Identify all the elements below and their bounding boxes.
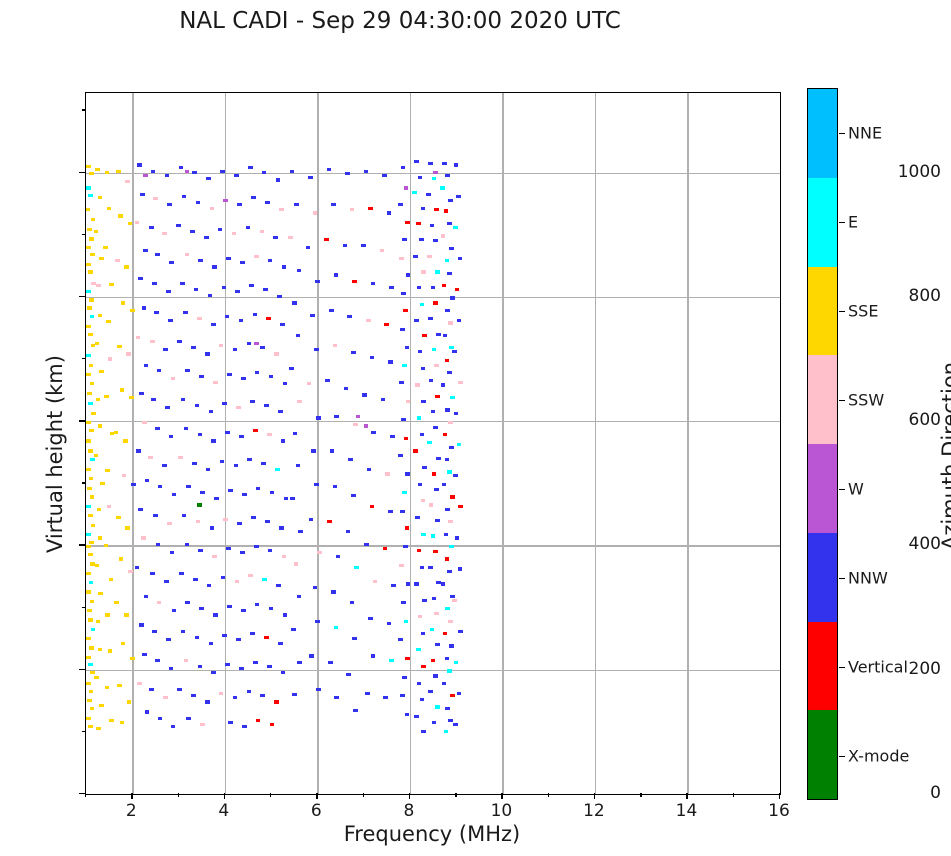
data-point (333, 344, 338, 347)
data-point (260, 694, 265, 697)
data-point (128, 222, 133, 225)
data-point (414, 160, 419, 163)
data-point (309, 654, 314, 657)
data-point (444, 209, 449, 212)
data-point (427, 441, 432, 444)
data-point (86, 572, 91, 575)
data-point (405, 221, 410, 224)
data-point (447, 470, 452, 473)
data-point (164, 580, 169, 583)
data-point (86, 186, 91, 189)
data-point (447, 371, 452, 374)
data-point (120, 388, 125, 391)
data-point (353, 423, 358, 426)
data-point (297, 661, 302, 664)
data-point (124, 613, 129, 616)
data-point (383, 696, 388, 699)
data-point (307, 382, 312, 385)
data-point (308, 176, 313, 179)
data-point (127, 700, 132, 703)
data-point (250, 632, 255, 635)
data-point (149, 226, 154, 229)
data-point (432, 177, 437, 180)
data-point (181, 630, 186, 633)
x-tick-label: 2 (126, 801, 137, 821)
data-point (267, 433, 272, 436)
data-point (179, 572, 184, 575)
data-point (456, 195, 461, 198)
data-point (158, 485, 163, 488)
x-tick-minor (640, 793, 641, 797)
data-point (226, 257, 231, 260)
data-point (105, 686, 110, 689)
colorbar-label-ssw: SSW (848, 390, 884, 409)
data-point (445, 174, 450, 177)
data-point (309, 518, 314, 521)
data-point (421, 730, 426, 733)
data-point (248, 166, 253, 169)
data-point (166, 638, 171, 641)
data-point (401, 166, 406, 169)
data-point (142, 421, 147, 424)
data-point (404, 620, 409, 623)
data-point (455, 288, 460, 291)
data-point (196, 520, 201, 523)
data-point (88, 618, 93, 621)
data-point (136, 449, 141, 452)
data-point (404, 437, 409, 440)
data-point (311, 449, 316, 452)
data-point (391, 584, 396, 587)
data-point (153, 197, 158, 200)
data-point (361, 244, 366, 247)
data-point (126, 352, 131, 355)
data-point (366, 319, 371, 322)
data-point (421, 533, 426, 536)
data-point (445, 707, 450, 710)
data-point (180, 282, 185, 285)
data-point (223, 199, 228, 202)
data-point (204, 236, 209, 239)
data-point (458, 567, 463, 570)
data-point (251, 516, 256, 519)
data-point (457, 443, 462, 446)
data-point (118, 214, 123, 217)
data-point (294, 562, 299, 565)
data-point (381, 398, 386, 401)
colorbar-tick (839, 311, 845, 312)
data-point (95, 564, 100, 567)
data-point (296, 464, 301, 467)
data-point (219, 692, 224, 695)
data-point (177, 688, 182, 691)
data-point (458, 381, 463, 384)
data-point (442, 682, 447, 685)
data-point (421, 367, 426, 370)
data-point (364, 424, 369, 427)
data-point (428, 690, 433, 693)
colorbar-tick (839, 578, 845, 579)
data-point (430, 224, 435, 227)
data-point (88, 449, 93, 452)
x-tick-label: 4 (218, 801, 229, 821)
data-point (294, 203, 299, 206)
colorbar-tick (839, 400, 845, 401)
colorbar-segment-nne (808, 89, 837, 178)
data-point (421, 400, 426, 403)
data-point (190, 230, 195, 233)
data-point (123, 439, 128, 442)
data-point (371, 654, 376, 657)
data-point (104, 395, 109, 398)
data-point (91, 628, 96, 631)
data-point (122, 474, 127, 477)
data-point (197, 503, 202, 506)
data-point (221, 576, 226, 579)
data-point (109, 283, 114, 286)
data-point (108, 357, 113, 360)
data-point (430, 628, 435, 631)
colorbar-tick (839, 756, 845, 757)
data-point (236, 406, 241, 409)
data-point (256, 719, 261, 722)
data-point (225, 431, 230, 434)
data-point (139, 623, 144, 626)
data-point (86, 717, 91, 720)
data-point (418, 615, 423, 618)
data-point (268, 549, 273, 552)
data-point (234, 174, 239, 177)
data-point (453, 723, 458, 726)
data-point (445, 458, 450, 461)
data-point (440, 186, 445, 189)
data-point (142, 306, 147, 309)
data-point (445, 259, 450, 262)
data-point (86, 533, 91, 536)
x-tick-major (224, 793, 225, 799)
data-point (417, 286, 422, 289)
x-tick-label: 8 (403, 801, 414, 821)
data-point (413, 255, 418, 258)
data-point (222, 286, 227, 289)
data-point (90, 671, 95, 674)
data-point (434, 208, 439, 211)
data-point (390, 435, 395, 438)
data-point (228, 721, 233, 724)
data-point (219, 344, 224, 347)
data-point (431, 410, 436, 413)
data-point (453, 474, 458, 477)
data-point (90, 315, 95, 318)
data-point (281, 671, 286, 674)
data-point (345, 172, 350, 175)
data-point (193, 578, 198, 581)
data-point (171, 377, 176, 380)
data-point (450, 296, 455, 299)
data-point (211, 671, 216, 674)
y-tick-major (79, 544, 85, 545)
data-point (240, 551, 245, 554)
data-point (292, 301, 297, 304)
data-point (171, 725, 176, 728)
data-point (88, 663, 93, 666)
data-point (398, 203, 403, 206)
data-point (253, 313, 258, 316)
data-point (418, 176, 423, 179)
data-point (399, 564, 404, 567)
data-point (195, 404, 200, 407)
data-point (121, 642, 126, 645)
data-point (292, 693, 297, 696)
data-point (362, 393, 367, 396)
data-point (405, 657, 410, 660)
data-point (233, 348, 238, 351)
data-point (328, 661, 333, 664)
x-tick-minor (455, 793, 456, 797)
data-point (116, 170, 121, 173)
data-point (86, 545, 91, 548)
data-point (264, 636, 269, 639)
data-point (447, 669, 452, 672)
y-axis-label: Virtual height (km) (43, 304, 67, 604)
data-point (105, 171, 110, 174)
data-point (89, 581, 94, 584)
data-point (281, 439, 286, 442)
data-point (87, 609, 92, 612)
data-point (241, 377, 246, 380)
data-point (448, 620, 453, 623)
x-axis-label: Frequency (MHz) (85, 822, 779, 846)
data-point (209, 410, 214, 413)
data-point (88, 333, 93, 336)
data-point (98, 592, 103, 595)
y-tick-major (79, 793, 85, 794)
data-point (195, 636, 200, 639)
colorbar-label-e: E (848, 212, 858, 231)
x-tick-minor (178, 793, 179, 797)
data-point (289, 367, 294, 370)
data-point (86, 373, 91, 376)
data-point (313, 586, 318, 589)
data-point (191, 346, 196, 349)
colorbar-tick (839, 667, 845, 668)
data-point (227, 373, 232, 376)
data-point (120, 721, 125, 724)
data-point (184, 427, 189, 430)
data-point (441, 234, 446, 237)
data-point (449, 545, 454, 548)
data-point (139, 392, 144, 395)
data-point (441, 582, 446, 585)
colorbar-label-x-mode: X-mode (848, 746, 909, 765)
colorbar-label-nnw: NNW (848, 568, 888, 587)
data-point (105, 469, 110, 472)
colorbar-label-w: W (848, 479, 864, 498)
data-point (226, 547, 231, 550)
data-point (96, 398, 101, 401)
data-point (346, 673, 351, 676)
data-point (405, 472, 410, 475)
data-point (191, 694, 196, 697)
data-point (89, 364, 94, 367)
data-point (233, 696, 238, 699)
data-point (239, 319, 244, 322)
data-point (403, 545, 408, 548)
data-point (232, 232, 237, 235)
y-tick-major (79, 420, 85, 421)
data-point (211, 439, 216, 442)
data-point (88, 194, 93, 197)
data-point (291, 628, 296, 631)
data-point (412, 191, 417, 194)
data-point (98, 314, 103, 317)
data-point (449, 644, 454, 647)
data-point (90, 382, 95, 385)
data-point (140, 193, 145, 196)
data-point (136, 336, 141, 339)
data-point (117, 345, 122, 348)
page-title: NAL CADI - Sep 29 04:30:00 2020 UTC (0, 8, 800, 34)
x-tick-major (131, 793, 132, 799)
data-point (86, 354, 91, 357)
data-point (182, 195, 187, 198)
data-point (429, 379, 434, 382)
data-point (284, 497, 289, 500)
x-tick-major (501, 793, 502, 799)
data-point (406, 400, 411, 403)
ionogram-figure: NAL CADI - Sep 29 04:30:00 2020 UTC 2468… (0, 0, 951, 856)
data-point (297, 400, 302, 403)
data-point (405, 346, 410, 349)
data-point (247, 458, 252, 461)
data-point (177, 340, 182, 343)
data-point (454, 661, 459, 664)
data-point (420, 433, 425, 436)
data-point (262, 171, 267, 174)
data-point (251, 196, 256, 199)
data-point (333, 485, 338, 488)
data-point (316, 688, 321, 691)
data-point (432, 348, 437, 351)
data-point (274, 352, 279, 355)
y-tick-major (79, 296, 85, 297)
data-point (356, 415, 361, 418)
data-point (86, 246, 91, 249)
data-point (444, 533, 449, 536)
data-point (142, 653, 147, 656)
data-point (315, 280, 320, 283)
data-point (143, 249, 148, 252)
data-point (100, 482, 105, 485)
y-tick-label: 0 (877, 783, 951, 803)
data-point (350, 601, 355, 604)
data-point (368, 617, 373, 620)
data-point (115, 259, 120, 262)
data-point (89, 172, 94, 175)
data-point (434, 364, 439, 367)
data-point (421, 665, 426, 668)
data-point (416, 222, 421, 225)
colorbar-title: Azimuth Direction (938, 296, 951, 616)
data-point (185, 253, 190, 256)
data-point (449, 346, 454, 349)
data-point (263, 288, 268, 291)
data-point (130, 657, 135, 660)
data-point (235, 580, 240, 583)
data-point (443, 632, 448, 635)
x-tick-minor (733, 793, 734, 797)
x-tick-minor (363, 793, 364, 797)
data-point (114, 431, 119, 434)
data-point (331, 590, 336, 593)
data-point (116, 516, 121, 519)
data-point (265, 520, 270, 523)
data-point (242, 725, 247, 728)
data-point (212, 265, 217, 268)
data-point (255, 603, 260, 606)
data-point (371, 431, 376, 434)
data-point (417, 549, 422, 552)
data-point (144, 595, 149, 598)
data-point (213, 613, 218, 616)
data-point (86, 421, 91, 424)
data-point (348, 458, 353, 461)
data-point (198, 259, 203, 262)
data-point (422, 466, 427, 469)
x-tick-minor (270, 793, 271, 797)
data-point (389, 286, 394, 289)
data-point (162, 464, 167, 467)
data-point (227, 605, 232, 608)
data-point (278, 410, 283, 413)
data-point (172, 609, 177, 612)
data-point (457, 692, 462, 695)
colorbar-label-sse: SSE (848, 301, 878, 320)
data-point (206, 468, 211, 471)
data-point (225, 315, 230, 318)
data-point (192, 171, 197, 174)
data-point (158, 717, 163, 720)
data-point (447, 222, 452, 225)
data-point (220, 460, 225, 463)
data-point (421, 632, 426, 635)
data-point (382, 174, 387, 177)
data-point (141, 536, 146, 539)
data-point (91, 282, 96, 285)
data-point (90, 458, 95, 461)
x-tick-major (409, 793, 410, 799)
data-point (447, 570, 452, 573)
data-point (228, 489, 233, 492)
data-point (269, 375, 274, 378)
data-point (211, 323, 216, 326)
data-point (273, 236, 278, 239)
data-point (434, 488, 439, 491)
data-point (237, 522, 242, 525)
data-point (153, 514, 158, 517)
data-point (253, 661, 258, 664)
colorbar-segment-sse (808, 267, 837, 356)
colorbar-segment-x-mode (808, 710, 837, 799)
data-point (145, 479, 150, 482)
data-point (442, 483, 447, 486)
data-point (88, 270, 93, 273)
y-tick-minor (82, 109, 86, 110)
data-point (86, 468, 91, 471)
data-point (172, 493, 177, 496)
colorbar-label-nne: NNE (848, 123, 882, 142)
data-point (370, 505, 375, 508)
